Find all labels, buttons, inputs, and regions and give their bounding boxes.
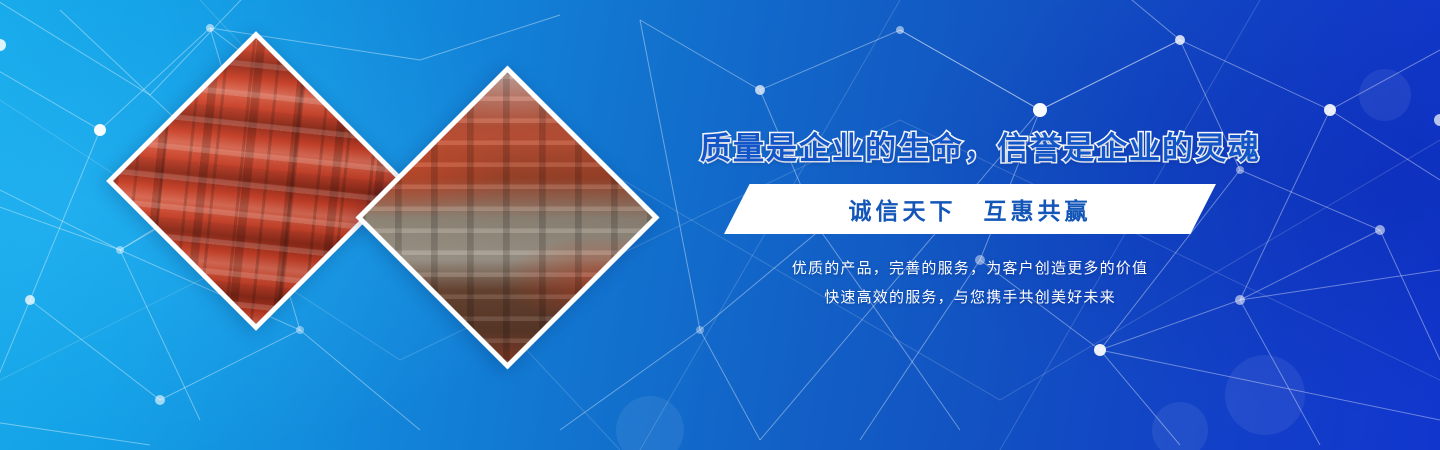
headline-slogan: 质量是企业的生命，信誉是企业的灵魂	[700, 126, 1240, 172]
subtitle-line-1: 优质的产品，完善的服务，为客户创造更多的价值	[700, 254, 1240, 283]
subtitle-line-2: 快速高效的服务，与您携手共创美好未来	[700, 283, 1240, 312]
promo-banner: 质量是企业的生命，信誉是企业的灵魂 诚信天下 互惠共赢 优质的产品，完善的服务，…	[0, 0, 1440, 450]
banner-text-block: 质量是企业的生命，信誉是企业的灵魂 诚信天下 互惠共赢 优质的产品，完善的服务，…	[700, 126, 1240, 312]
slogan-ribbon: 诚信天下 互惠共赢	[724, 184, 1216, 234]
slogan-ribbon-text: 诚信天下 互惠共赢	[849, 192, 1092, 226]
subtitle-lines: 优质的产品，完善的服务，为客户创造更多的价值 快速高效的服务，与您携手共创美好未…	[700, 254, 1240, 312]
